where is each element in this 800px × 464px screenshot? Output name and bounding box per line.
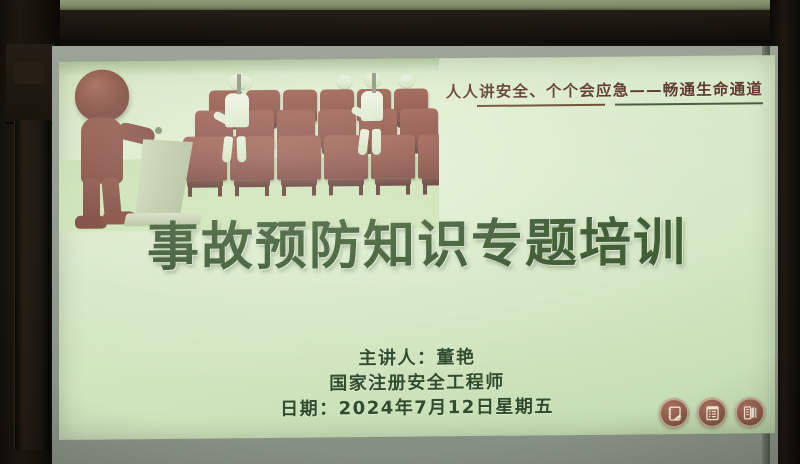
audience-person	[399, 75, 414, 88]
speaker-head	[75, 69, 129, 122]
left-wall-cap	[6, 44, 54, 124]
checklist-notepad-icon	[697, 398, 727, 428]
page-title: 事故预防知识专题培训	[59, 199, 775, 281]
seat-leg	[423, 182, 427, 194]
left-wall-trim	[14, 120, 50, 450]
corner-icon-group	[659, 397, 765, 428]
seat-leg	[235, 184, 239, 196]
seat-leg	[359, 183, 363, 195]
slogan-underline-left	[477, 104, 605, 107]
audience-person-seated	[229, 74, 249, 127]
seat-leg	[188, 185, 192, 197]
meeting-room-photo: 人人讲安全、个个会应急——畅通生命通道	[0, 0, 800, 464]
seat-leg	[282, 184, 286, 196]
slogan-underline-right	[615, 102, 763, 105]
seat-leg	[312, 184, 316, 196]
audience-head	[337, 75, 352, 88]
audience-person-seated	[365, 73, 383, 121]
slogan-text: 人人讲安全、个个会应急——畅通生命通道	[446, 77, 763, 102]
seat-leg	[329, 183, 333, 195]
seat-leg	[218, 184, 222, 196]
audience-leg	[237, 136, 247, 162]
left-wood-wall	[0, 0, 60, 464]
audience-tie	[237, 74, 241, 94]
audience-leg	[372, 129, 381, 155]
open-book-icon	[735, 397, 765, 427]
audience-tie	[372, 73, 376, 93]
notepad-pen-icon	[659, 398, 689, 428]
auditorium-seat	[418, 134, 439, 178]
seat-leg	[265, 184, 269, 196]
slide-slogan: 人人讲安全、个个会应急——畅通生命通道	[446, 77, 763, 107]
seat-leg	[376, 183, 380, 195]
seat-leg	[406, 183, 410, 195]
audience-person	[337, 75, 352, 88]
left-wall-cap-detail	[14, 62, 44, 84]
microphone-icon	[155, 127, 162, 134]
auditorium-seat	[277, 135, 321, 179]
audience-head	[399, 75, 414, 88]
slogan-underlines	[446, 102, 763, 107]
projected-slide: 人人讲安全、个个会应急——畅通生命通道	[59, 55, 775, 440]
speaker-body	[81, 117, 123, 183]
